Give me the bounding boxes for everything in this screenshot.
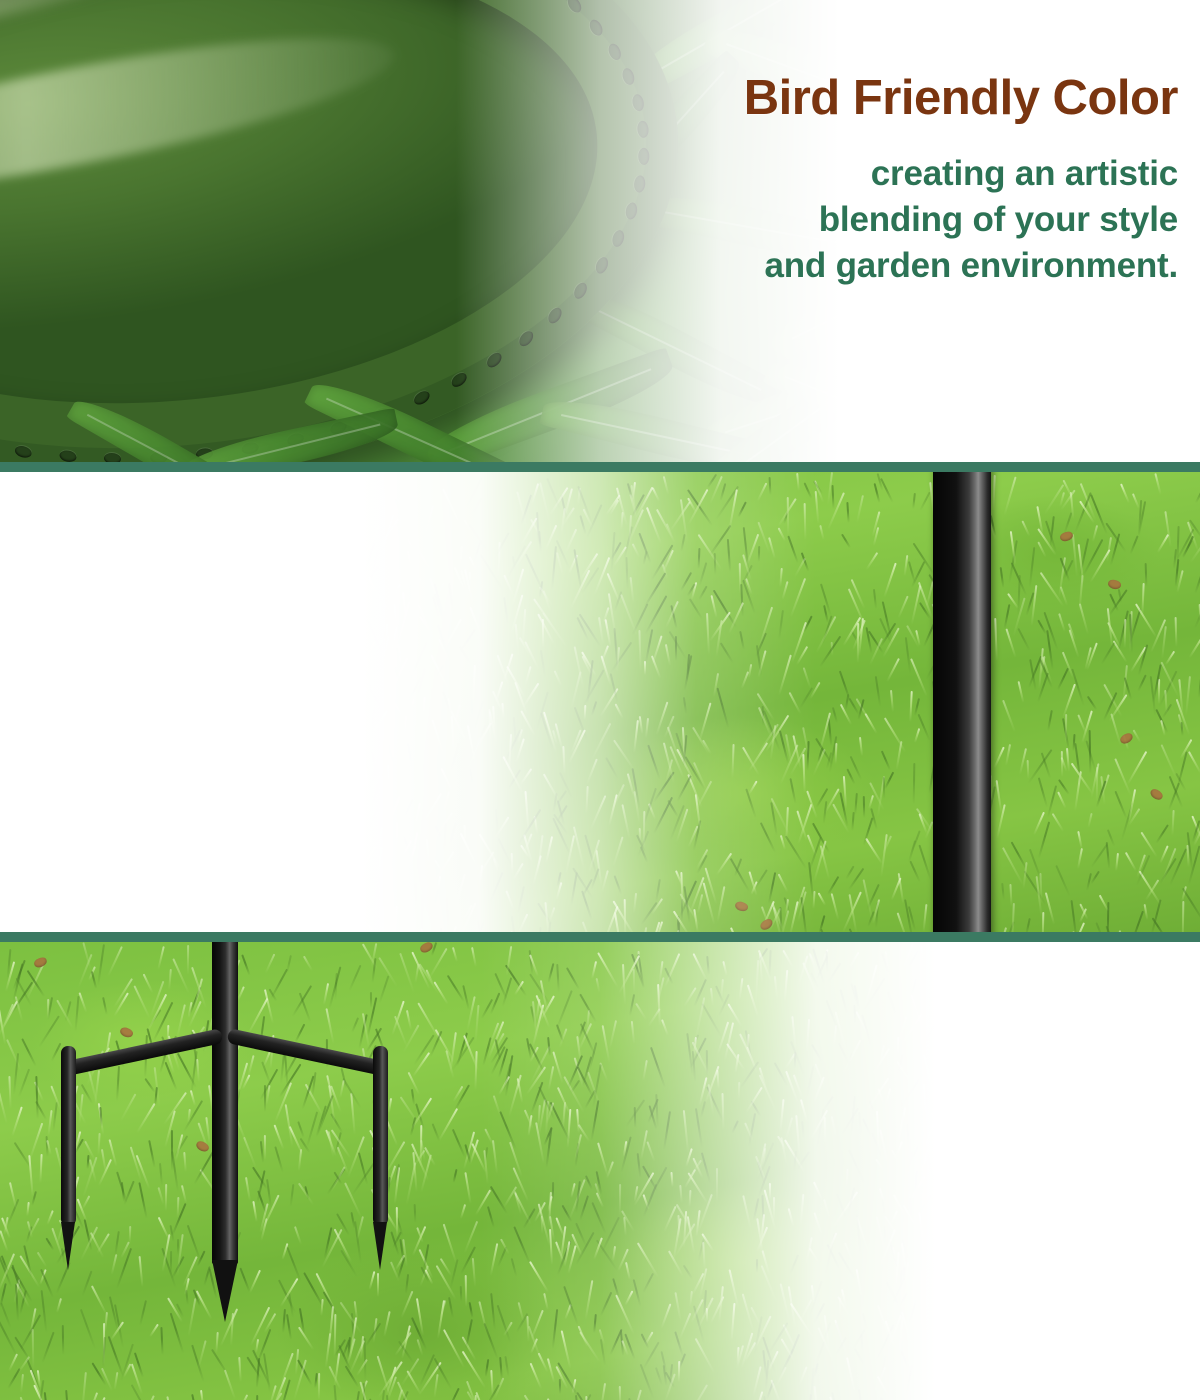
panel-1-body: creating an artistic blending of your st…	[744, 151, 1178, 289]
white-fade-overlay	[0, 942, 1200, 1400]
panel-1-body-line-1: creating an artistic	[744, 151, 1178, 197]
steel-pole-photo	[0, 472, 1200, 932]
feature-panel-high-quality: High Quality heavy duty steel stake make…	[0, 472, 1200, 932]
product-feature-infographic: Bird Friendly Color creating an artistic…	[0, 0, 1200, 1400]
panel-divider-1	[0, 462, 1200, 472]
panel-1-body-line-2: blending of your style	[744, 197, 1178, 243]
feature-panel-three-solid-prongs: 3 Solid Prongs make this bird bath stay …	[0, 942, 1200, 1400]
panel-1-text-block: Bird Friendly Color creating an artistic…	[744, 74, 1178, 289]
feature-panel-bird-friendly-color: Bird Friendly Color creating an artistic…	[0, 0, 1200, 462]
prong-stake-photo	[0, 942, 1200, 1400]
white-fade-overlay	[0, 472, 1200, 932]
panel-divider-2	[0, 932, 1200, 942]
panel-1-heading: Bird Friendly Color	[744, 74, 1178, 124]
panel-1-body-line-3: and garden environment.	[744, 243, 1178, 289]
